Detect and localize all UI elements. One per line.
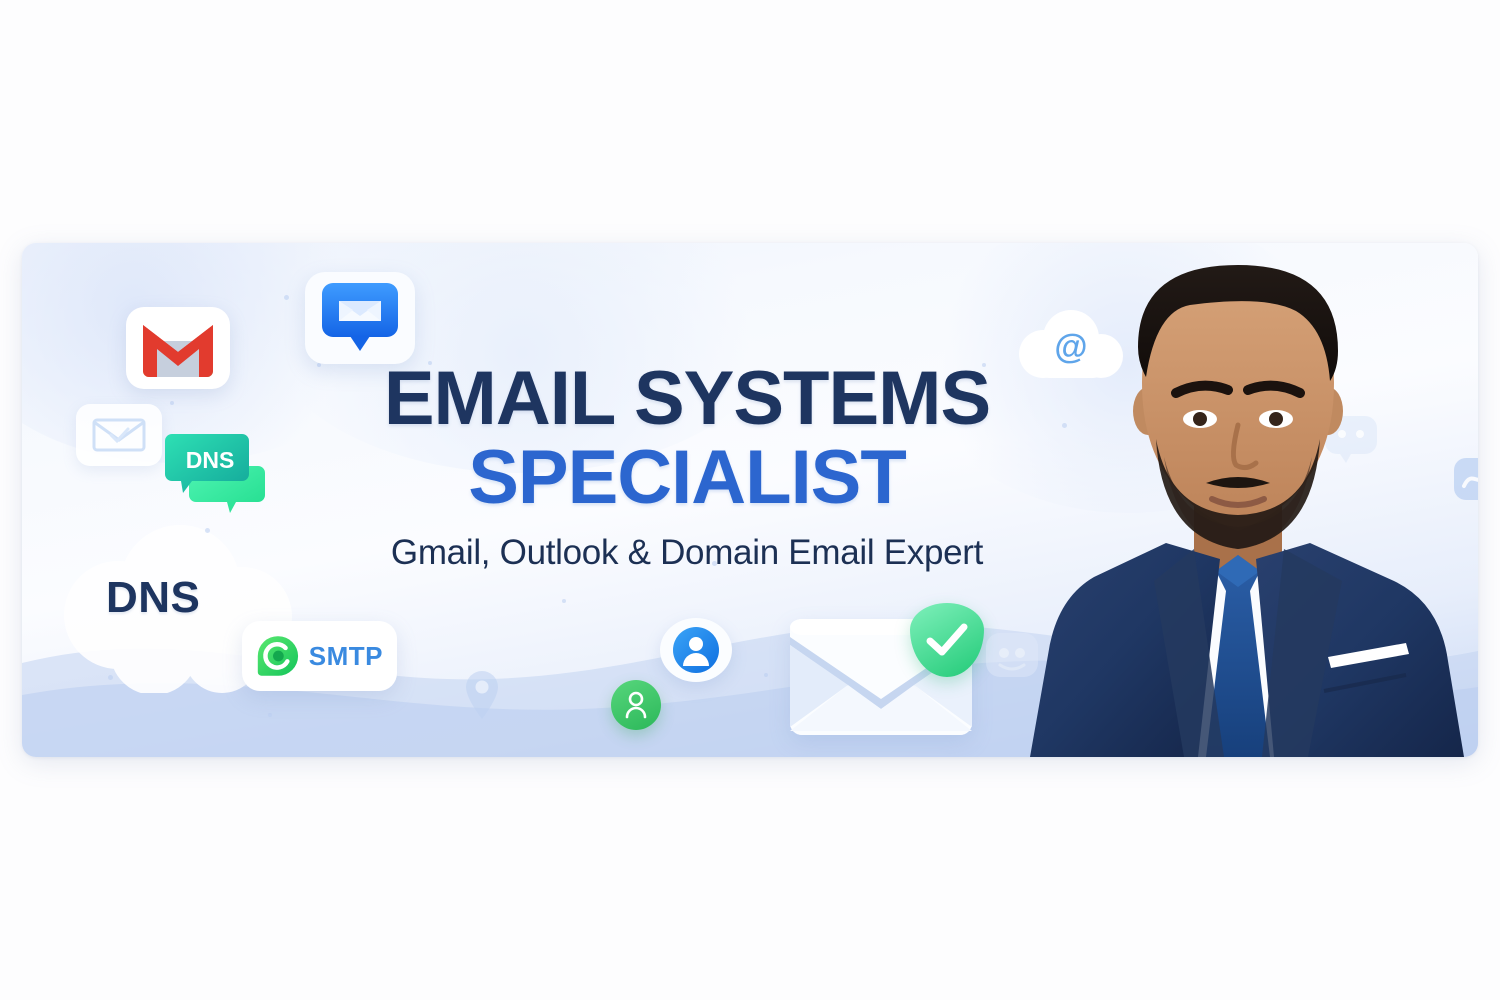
mail-bubble-icon xyxy=(305,272,415,364)
speck xyxy=(108,675,113,680)
speck xyxy=(764,673,768,677)
page-title-line1: EMAIL SYSTEMS xyxy=(322,363,1052,436)
smtp-chip: SMTP xyxy=(242,621,397,691)
mail-bubble-glyph xyxy=(317,279,403,357)
envelope-outline-glyph xyxy=(92,416,146,454)
speck xyxy=(268,713,272,717)
gmail-icon xyxy=(126,307,230,389)
dns-bubble-label: DNS xyxy=(186,447,235,473)
location-pin-icon xyxy=(462,669,502,721)
gmail-logo xyxy=(141,319,215,377)
page-title-line2: SPECIALIST xyxy=(322,438,1052,517)
check-icon xyxy=(925,622,969,658)
page-root: DNS DNS SMTP xyxy=(0,0,1500,1000)
speck xyxy=(170,401,174,405)
portrait-photo xyxy=(998,243,1478,757)
speck xyxy=(562,599,566,603)
user-avatar-icon xyxy=(660,618,732,682)
page-tagline: Gmail, Outlook & Domain Email Expert xyxy=(322,533,1052,573)
dns-bubbles-glyph: DNS xyxy=(162,428,272,514)
dns-chat-bubbles-icon: DNS xyxy=(162,428,272,514)
profile-banner-card: DNS DNS SMTP xyxy=(22,243,1478,757)
verified-envelope-icon xyxy=(790,619,972,735)
dns-word-label: DNS xyxy=(106,573,200,623)
smtp-leaf-icon xyxy=(256,632,301,680)
ghost-envelope-icon xyxy=(76,404,162,466)
smtp-label: SMTP xyxy=(309,641,383,672)
headline-block: EMAIL SYSTEMS SPECIALIST Gmail, Outlook … xyxy=(322,363,1052,573)
contact-outline-glyph xyxy=(621,690,651,720)
user-avatar-glyph xyxy=(672,626,720,674)
speck xyxy=(205,528,210,533)
speck xyxy=(284,295,289,300)
contact-green-icon xyxy=(611,680,661,730)
